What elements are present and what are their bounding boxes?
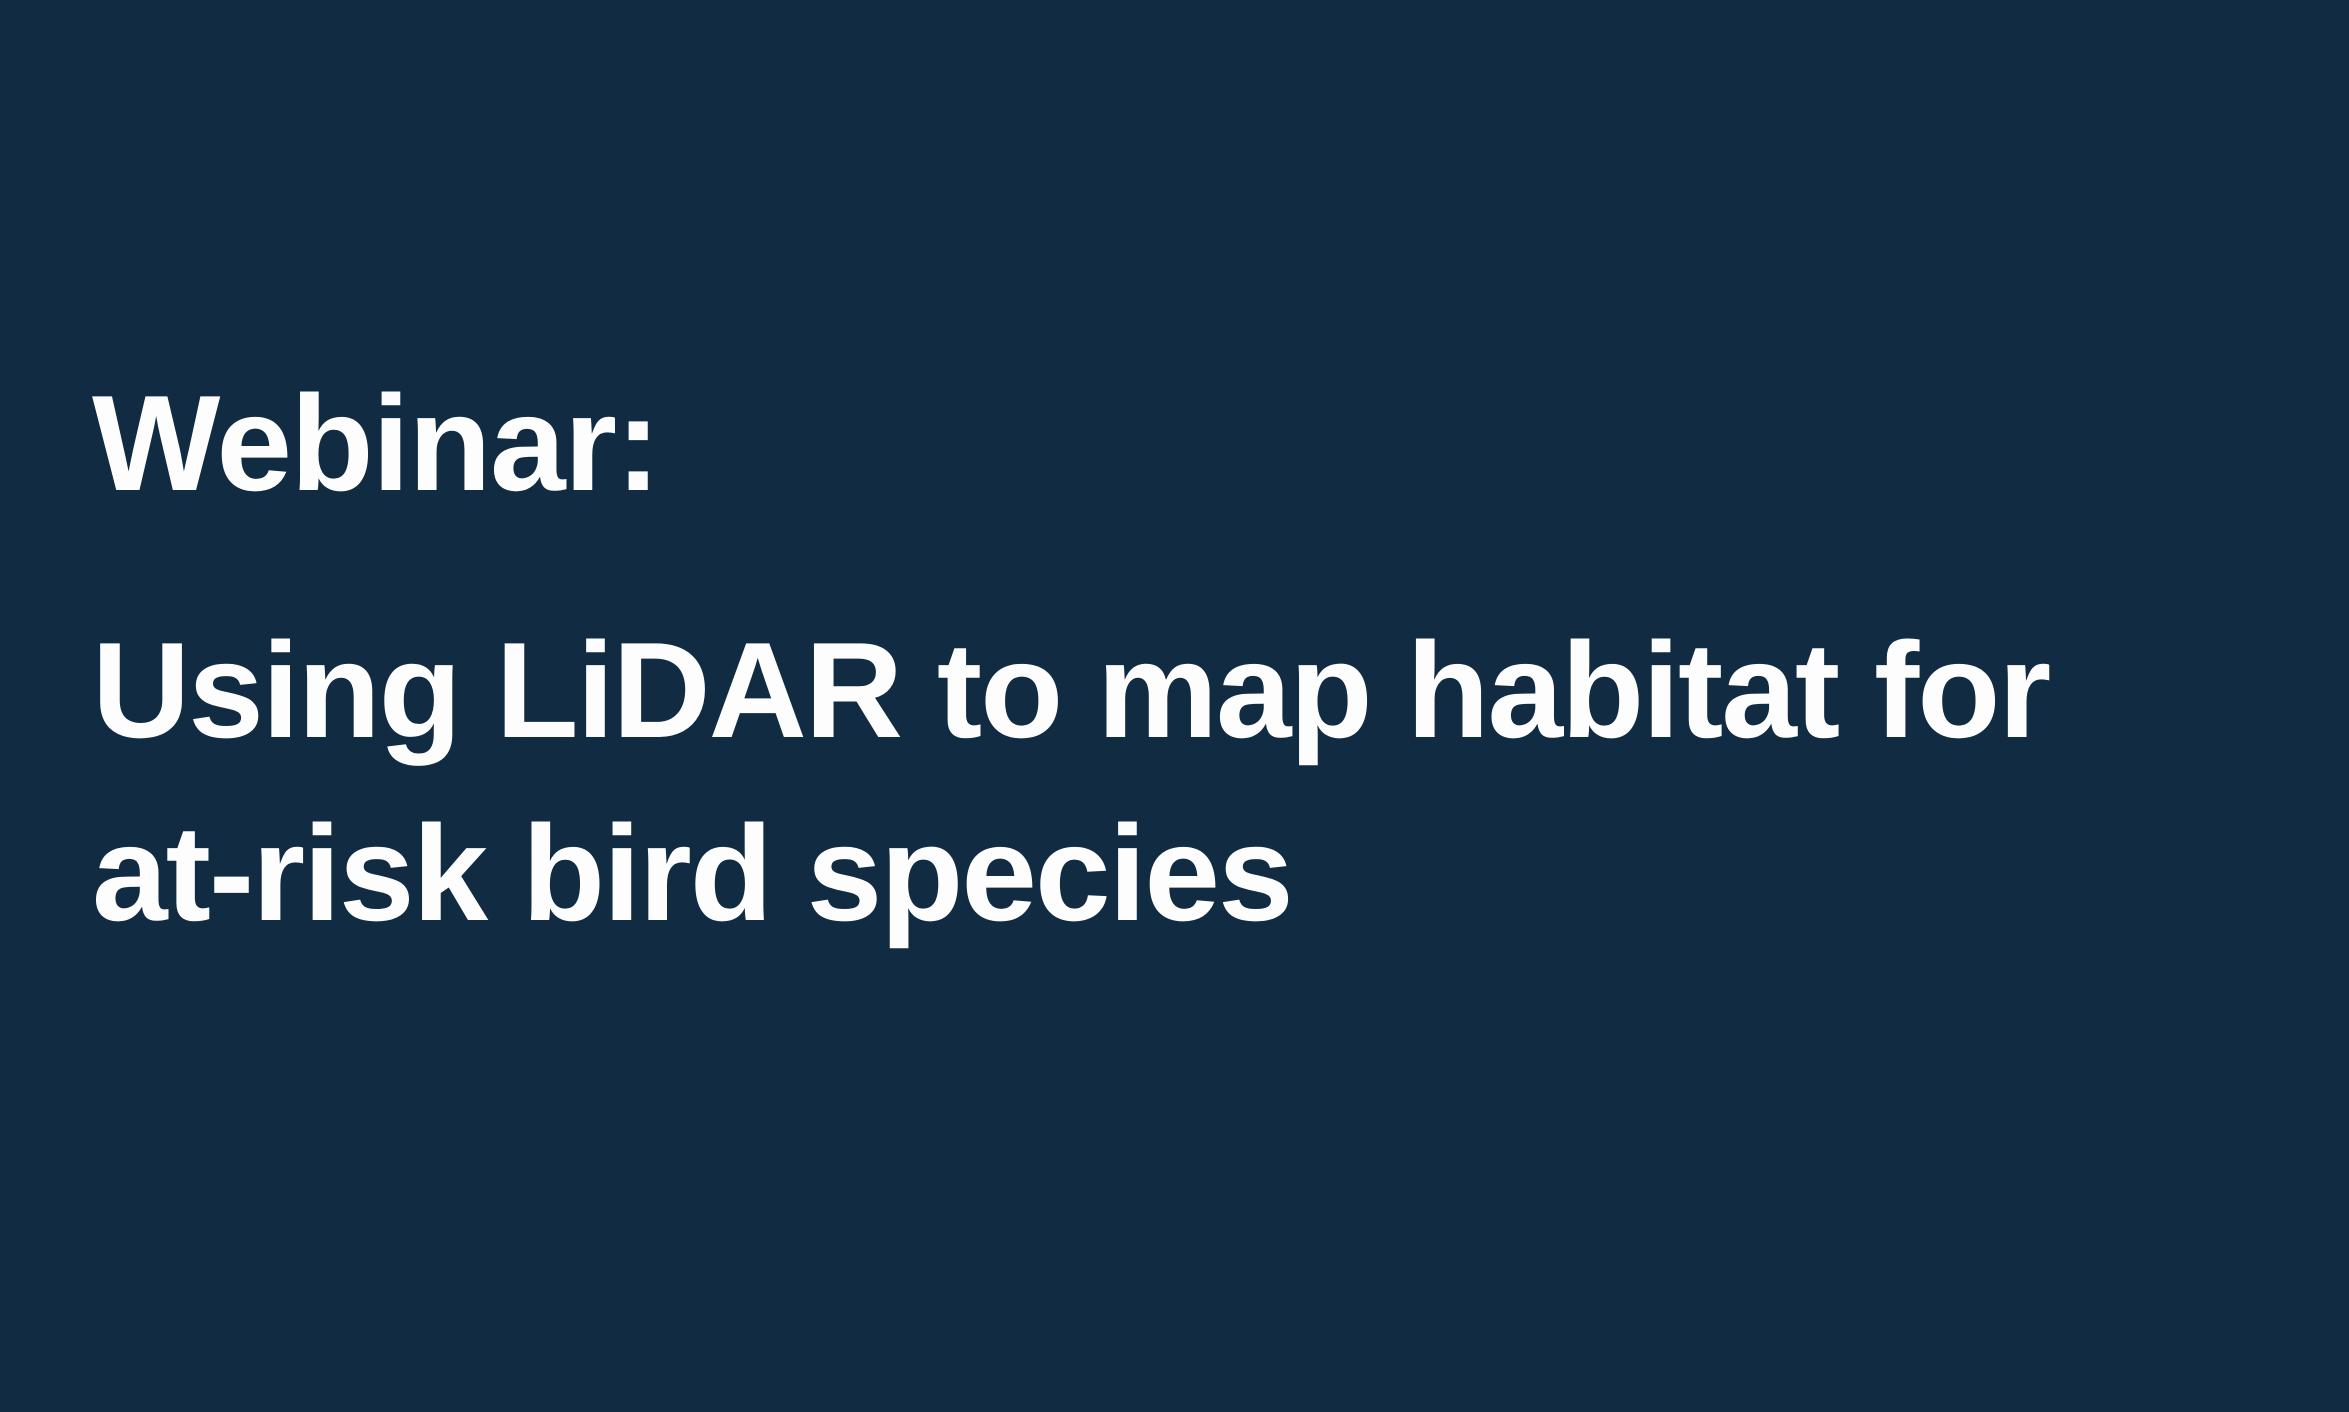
title-slide: Webinar: Using LiDAR to map habitat for … [0,0,2349,1412]
slide-title: Using LiDAR to map habitat for at-risk b… [92,599,2102,965]
title-line-1: Using LiDAR to map habitat for [92,599,2102,782]
kicker-block: Webinar: [92,352,2192,535]
kicker-label: Webinar: [92,352,2192,535]
title-line-2: at-risk bird species [92,782,2102,965]
slide-text-block: Webinar: Using LiDAR to map habitat for … [92,352,2192,965]
